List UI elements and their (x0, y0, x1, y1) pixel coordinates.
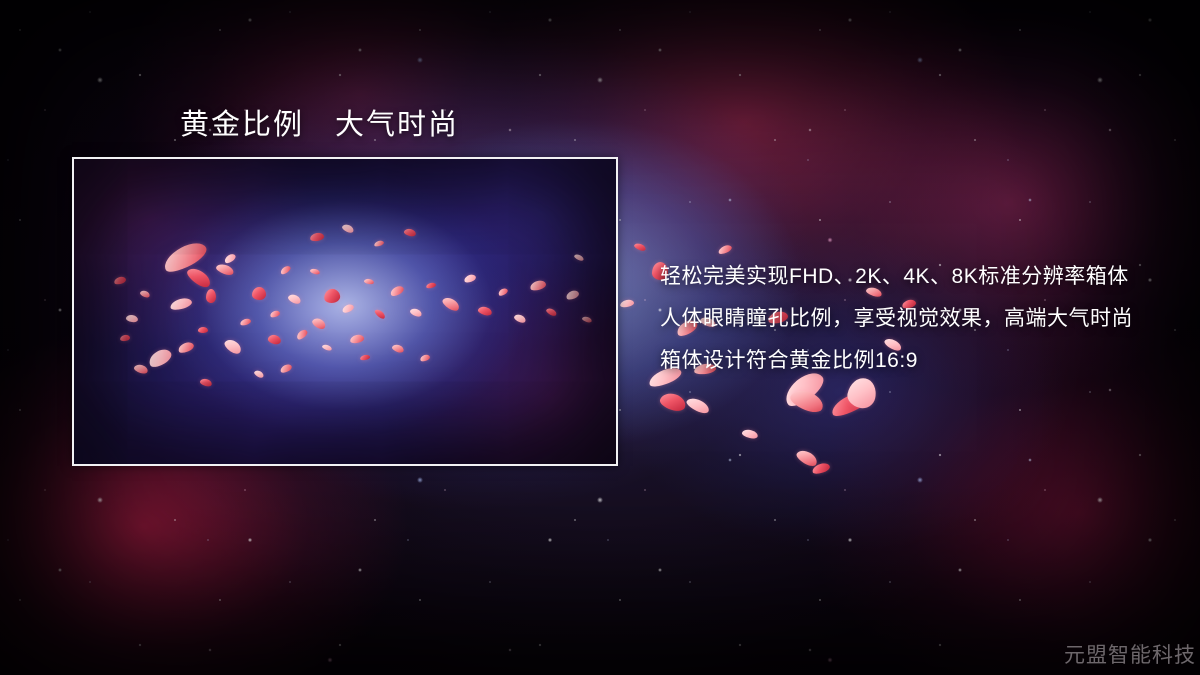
body-copy: 轻松完美实现FHD、2K、4K、8K标准分辨率箱体 人体眼睛瞳孔比例，享受视觉效… (660, 256, 1160, 382)
body-line-3: 箱体设计符合黄金比例16:9 (660, 340, 1160, 382)
watermark: 元盟智能科技 (1064, 639, 1196, 669)
panel-vignette (74, 159, 616, 464)
body-line-2: 人体眼睛瞳孔比例，享受视觉效果，高端大气时尚 (660, 298, 1160, 340)
presentation-slide: 黄金比例 大气时尚 轻松完美实现FHD、2K、4K、8K标准分辨率箱体 人体眼睛… (0, 0, 1200, 675)
display-preview-panel[interactable] (72, 157, 618, 466)
page-title: 黄金比例 大气时尚 (180, 101, 459, 143)
body-line-1: 轻松完美实现FHD、2K、4K、8K标准分辨率箱体 (660, 256, 1160, 298)
